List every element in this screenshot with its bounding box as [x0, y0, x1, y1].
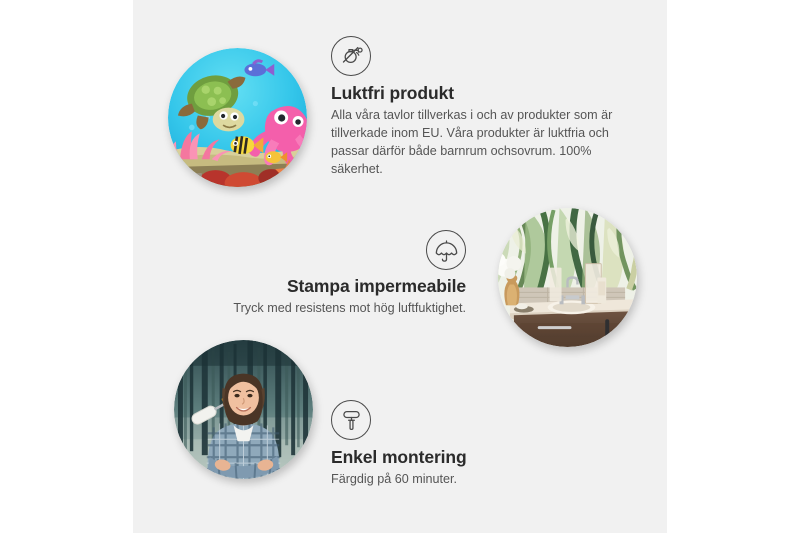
product-photo-painter[interactable]: [174, 340, 313, 479]
feature-assembly: Enkel montering Färgdig på 60 minuter.: [331, 400, 591, 489]
painter-photo: [174, 340, 313, 479]
feature-description: Färgdig på 60 minuter.: [331, 471, 591, 489]
feature-description: Tryck med resistens mot hög luftfuktighe…: [210, 300, 466, 318]
no-fragrance-icon: [331, 36, 371, 76]
product-photo-bathroom[interactable]: [498, 208, 637, 347]
feature-description: Alla våra tavlor tillverkas i och av pro…: [331, 107, 627, 179]
paint-roller-icon: [331, 400, 371, 440]
feature-title: Stampa impermeabile: [210, 276, 466, 297]
screenshot-root: Luktfri produkt Alla våra tavlor tillver…: [0, 0, 800, 533]
feature-odourless: Luktfri produkt Alla våra tavlor tillver…: [331, 36, 627, 179]
feature-title: Enkel montering: [331, 447, 591, 468]
feature-waterproof: Stampa impermeabile Tryck med resistens …: [210, 230, 466, 318]
underwater-illustration: [168, 48, 307, 187]
bathroom-photo: [498, 208, 637, 347]
feature-title: Luktfri produkt: [331, 83, 627, 104]
product-photo-underwater[interactable]: [168, 48, 307, 187]
umbrella-icon: [426, 230, 466, 270]
